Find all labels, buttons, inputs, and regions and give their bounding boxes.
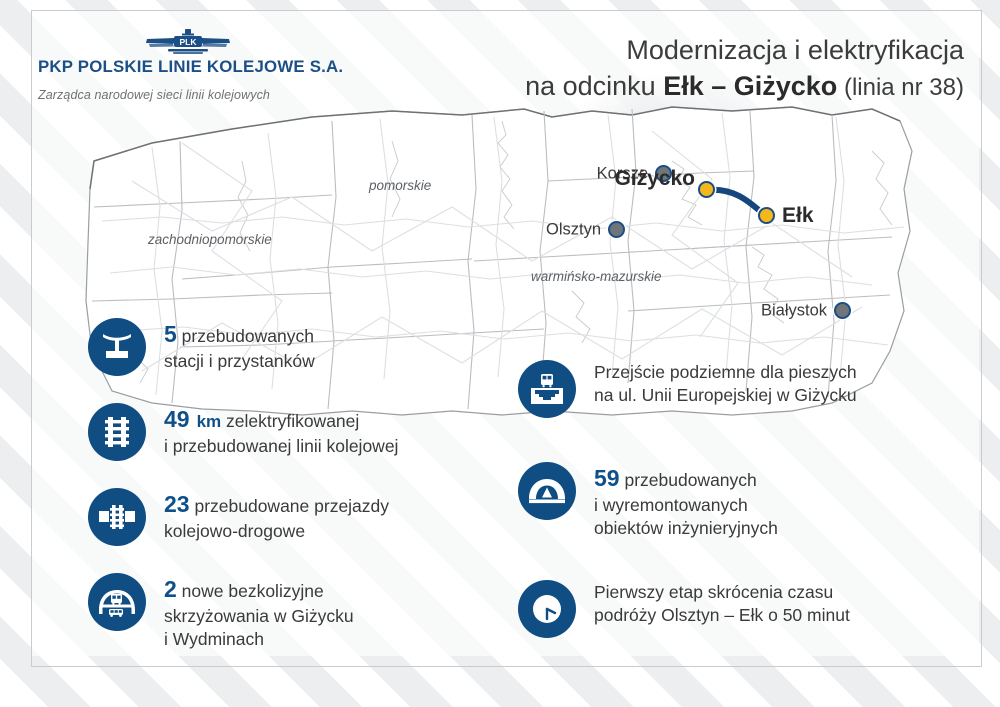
plk-winged-emblem-icon: PLK (145, 28, 231, 56)
stat-number: 5 (164, 321, 177, 347)
stat-line-2: kolejowo-drogowe (164, 520, 389, 543)
title-line-1: Modernizacja i elektryfikacja (525, 33, 964, 69)
grade-separated-crossing-icon (88, 573, 146, 631)
stat-line-1: 2 nowe bezkolizyjne (164, 574, 354, 605)
stat-text: 59 przebudowanych i wyremontowanych obie… (594, 462, 778, 540)
infographic-canvas: zachodniopomorskie pomorskie warmińsko-m… (0, 0, 1000, 707)
title-line-2: na odcinku Ełk – Giżycko (linia nr 38) (525, 69, 964, 105)
stat-line-2: i przebudowanej linii kolejowej (164, 435, 398, 458)
stat-text: Przejście podziemne dla pieszych na ul. … (594, 360, 857, 408)
stat-item-travel-time: Pierwszy etap skrócenia czasu podróży Ol… (518, 580, 958, 638)
stat-text: Pierwszy etap skrócenia czasu podróży Ol… (594, 580, 850, 628)
stat-first-line: przebudowanych (177, 326, 314, 346)
stat-line-2: podróży Olsztyn – Ełk o 50 minut (594, 604, 850, 627)
stat-line-2: i wyremontowanych (594, 494, 778, 517)
bridge-arch-icon (518, 462, 576, 520)
stats-column-left: 5 przebudowanych stacji i przystanków 49… (88, 318, 488, 651)
page-title: Modernizacja i elektryfikacja na odcinku… (525, 33, 964, 105)
stat-number: 59 (594, 465, 620, 491)
title-line-number: (linia nr 38) (837, 74, 964, 101)
stat-line-1: 23 przebudowane przejazdy (164, 489, 389, 520)
stat-unit: km (197, 412, 222, 431)
brand-name: PKP POLSKIE LINIE KOLEJOWE S.A. (38, 58, 344, 77)
stat-number: 23 (164, 491, 190, 517)
stat-item-stations: 5 przebudowanych stacji i przystanków (88, 318, 488, 376)
stat-first-line: przebudowane przejazdy (190, 496, 389, 516)
stat-item-pedestrian-underpass: Przejście podziemne dla pieszych na ul. … (518, 360, 958, 418)
title-prefix: na odcinku (525, 71, 663, 101)
stat-line-2: na ul. Unii Europejskiej w Giżycku (594, 384, 857, 407)
stat-first-line: nowe bezkolizyjne (177, 581, 324, 601)
title-route: Ełk – Giżycko (663, 71, 837, 101)
stat-line-1: 59 przebudowanych (594, 463, 778, 494)
stat-line-1: Pierwszy etap skrócenia czasu (594, 581, 850, 604)
stat-line-1: 5 przebudowanych (164, 319, 315, 350)
pedestrian-underpass-icon (518, 360, 576, 418)
railway-track-icon (88, 403, 146, 461)
stat-item-engineering-structures: 59 przebudowanych i wyremontowanych obie… (518, 462, 958, 540)
stat-number: 49 (164, 406, 190, 432)
stat-first-line: zelektryfikowanej (221, 411, 359, 431)
stat-item-electrified-line: 49km zelektryfikowanej i przebudowanej l… (88, 403, 488, 461)
svg-text:PLK: PLK (180, 37, 198, 47)
station-platform-canopy-icon (88, 318, 146, 376)
stat-line-1: 49km zelektryfikowanej (164, 404, 398, 435)
stat-text: 5 przebudowanych stacji i przystanków (164, 318, 315, 373)
stat-line-2: skrzyżowania w Giżycku (164, 605, 354, 628)
stat-text: 23 przebudowane przejazdy kolejowo-drogo… (164, 488, 389, 543)
stat-item-grade-separated: 2 nowe bezkolizyjne skrzyżowania w Giżyc… (88, 573, 488, 651)
stat-text: 2 nowe bezkolizyjne skrzyżowania w Giżyc… (164, 573, 354, 651)
brand-tagline: Zarządca narodowej sieci linii kolejowyc… (38, 88, 338, 102)
stats-column-right: Przejście podziemne dla pieszych na ul. … (518, 360, 958, 638)
stat-first-line: przebudowanych (620, 470, 757, 490)
stat-line-3: i Wydminach (164, 628, 354, 651)
stat-text: 49km zelektryfikowanej i przebudowanej l… (164, 403, 398, 458)
stat-line-1: Przejście podziemne dla pieszych (594, 361, 857, 384)
stat-number: 2 (164, 576, 177, 602)
level-crossing-icon (88, 488, 146, 546)
stat-line-2: stacji i przystanków (164, 350, 315, 373)
clock-icon (518, 580, 576, 638)
stat-line-3: obiektów inżynieryjnych (594, 517, 778, 540)
brand-logo: PLK PKP POLSKIE LINIE KOLEJOWE S.A. Zarz… (38, 28, 338, 102)
stat-item-level-crossings: 23 przebudowane przejazdy kolejowo-drogo… (88, 488, 488, 546)
